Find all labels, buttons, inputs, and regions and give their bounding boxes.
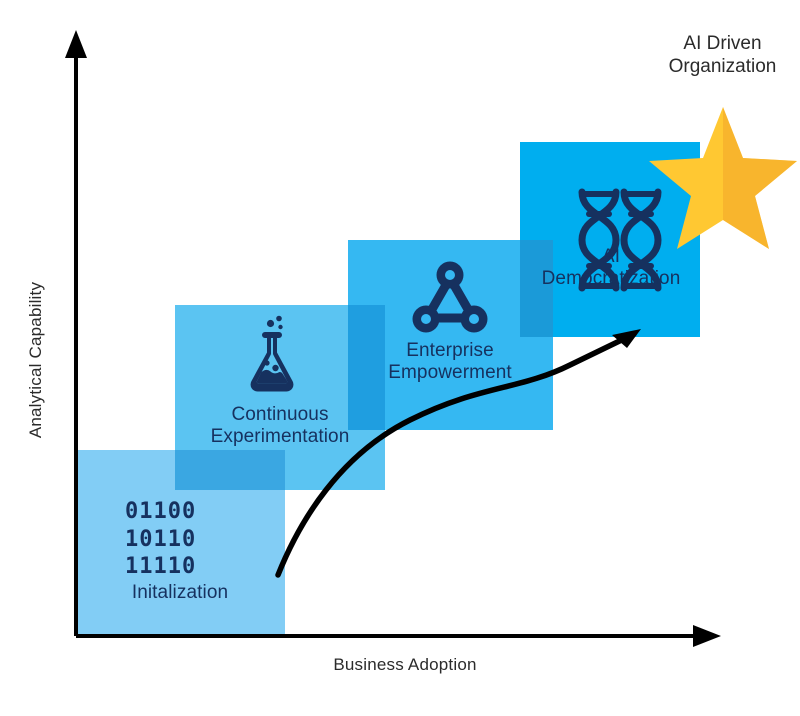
stage-caption-initialization: Initalization	[75, 582, 285, 604]
x-axis-label: Business Adoption	[260, 655, 550, 675]
stage-caption-continuous-experimentation: Continuous Experimentation	[170, 404, 390, 448]
maturity-diagram: Analytical Capability Business Adoption …	[0, 0, 800, 716]
y-axis-arrowhead-icon	[65, 30, 87, 58]
goal-label: AI Driven Organization	[645, 33, 800, 79]
stage-caption-enterprise-empowerment: Enterprise Empowerment	[345, 340, 555, 384]
binary-code-icon: 01100 10110 11110	[125, 498, 196, 581]
y-axis-label: Analytical Capability	[26, 260, 46, 460]
x-axis-arrowhead-icon	[693, 625, 721, 647]
stage-caption-ai-democratization: AI Democratization	[516, 246, 706, 290]
